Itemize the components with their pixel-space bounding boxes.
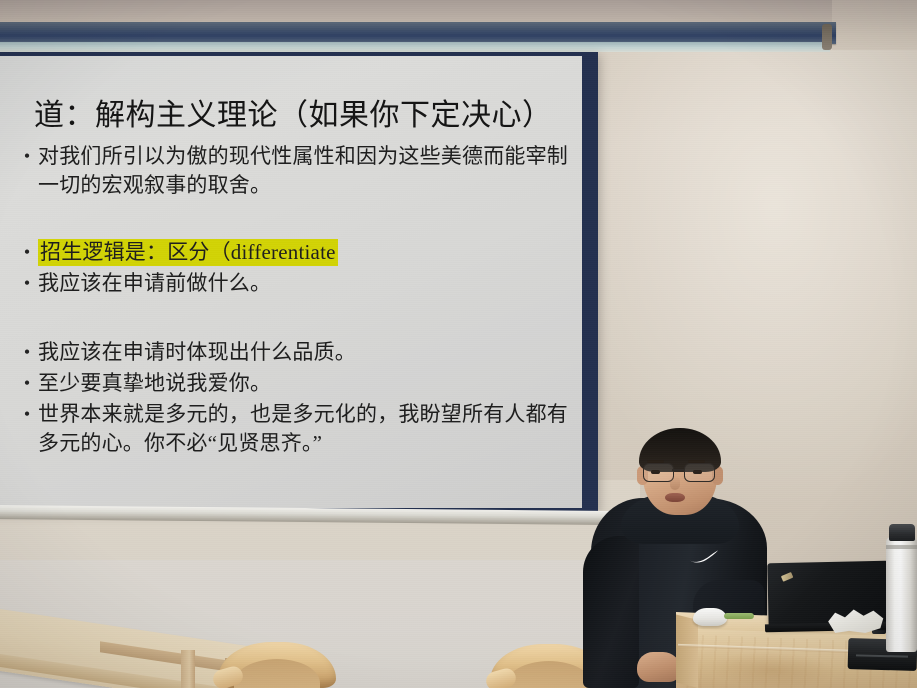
highlighted-text: 招生逻辑是：区分（differentiate	[38, 239, 338, 266]
slide-bullet-1: • 对我们所引以为傲的现代性属性和因为这些美德而能宰制一切的宏观叙事的取舍。	[16, 142, 576, 200]
slide-bullet-4-text: 我应该在申请时体现出什么品质。	[38, 338, 576, 367]
slide-bullet-3-text: 我应该在申请前做什么。	[38, 269, 576, 298]
bullet-marker-icon: •	[16, 400, 38, 429]
slide-bullet-6: • 世界本来就是多元的，也是多元化的，我盼望所有人都有多元的心。你不必“见贤思齐…	[16, 400, 576, 458]
slide-bullet-5: • 至少要真挚地说我爱你。	[16, 369, 576, 398]
presenter-eye	[693, 470, 702, 474]
slide-bullet-3: • 我应该在申请前做什么。	[16, 269, 576, 298]
slide-bullet-6-text: 世界本来就是多元的，也是多元化的，我盼望所有人都有多元的心。你不必“见贤思齐。”	[38, 400, 576, 458]
pen-object	[724, 613, 754, 619]
glasses-bridge	[672, 469, 684, 471]
screen-roller-bracket	[822, 24, 832, 50]
presenter-nose	[670, 476, 680, 490]
presenter-left-shoulder	[583, 536, 639, 688]
slide-title: 道：解构主义理论（如果你下定决心）	[34, 90, 553, 134]
slide-bullet-1-text: 对我们所引以为傲的现代性属性和因为这些美德而能宰制一切的宏观叙事的取舍。	[38, 142, 576, 200]
screen-roller-lip	[0, 42, 830, 52]
mouse-object	[693, 608, 727, 626]
wooden-desk-side	[676, 615, 698, 688]
ceiling-corner	[832, 0, 917, 50]
presenter-hands	[637, 652, 681, 682]
bullet-marker-icon: •	[16, 338, 38, 367]
bottle-object	[886, 537, 917, 652]
wooden-table-leg	[181, 650, 195, 688]
bullet-marker-icon: •	[16, 238, 38, 267]
bullet-marker-icon: •	[16, 369, 38, 398]
presenter-eye	[651, 470, 660, 474]
slide-bullet-list: • 对我们所引以为傲的现代性属性和因为这些美德而能宰制一切的宏观叙事的取舍。 •…	[16, 142, 576, 458]
laptop-logo-icon	[781, 572, 793, 582]
slide-bullet-2: • 招生逻辑是：区分（differentiate	[16, 238, 576, 267]
nike-swoosh-icon	[689, 550, 719, 564]
chair-seat-inner	[506, 661, 592, 688]
slide-content: 道：解构主义理论（如果你下定决心） • 对我们所引以为傲的现代性属性和因为这些美…	[0, 56, 592, 504]
slide-bullet-4: • 我应该在申请时体现出什么品质。	[16, 338, 576, 367]
classroom-photo: 道：解构主义理论（如果你下定决心） • 对我们所引以为傲的现代性属性和因为这些美…	[0, 0, 917, 688]
slide-bullet-5-text: 至少要真挚地说我爱你。	[38, 369, 576, 398]
bullet-marker-icon: •	[16, 142, 38, 171]
presenter-mouth	[665, 493, 685, 502]
chair-seat-inner	[234, 659, 320, 688]
bottle-cap	[889, 524, 915, 541]
slide-bullet-2-text: 招生逻辑是：区分（differentiate	[38, 238, 576, 267]
screen-roller-casing	[0, 22, 836, 44]
bullet-marker-icon: •	[16, 269, 38, 298]
bottle-ring	[886, 545, 917, 549]
